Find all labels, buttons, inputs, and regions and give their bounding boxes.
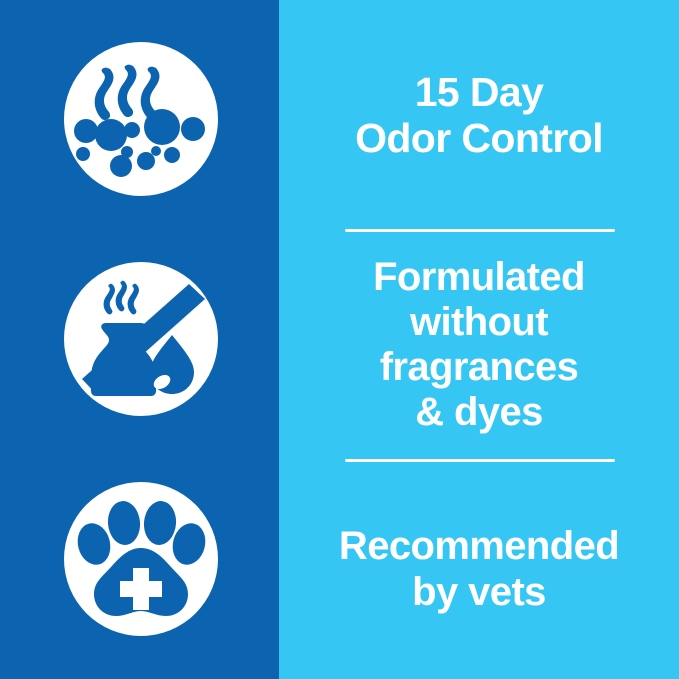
claim-vet-recommended-text: Recommended by vets bbox=[339, 524, 619, 614]
no-fragrance-dye-icon bbox=[64, 262, 218, 416]
icon-panel bbox=[0, 0, 279, 679]
odor-molecules-icon bbox=[64, 42, 218, 196]
claims-panel: 15 Day Odor Control Formulated without f… bbox=[279, 0, 679, 679]
claim-no-fragrance-dyes: Formulated without fragrances & dyes bbox=[279, 230, 679, 460]
product-benefits-infographic: 15 Day Odor Control Formulated without f… bbox=[0, 0, 679, 679]
icon-badge-vet-recommended bbox=[64, 482, 218, 636]
icon-badge-no-fragrance-dyes bbox=[64, 262, 218, 416]
claim-odor-control: 15 Day Odor Control bbox=[279, 0, 679, 230]
claim-vet-recommended: Recommended by vets bbox=[279, 460, 679, 679]
claim-divider-1 bbox=[345, 229, 615, 232]
vet-paw-cross-icon bbox=[64, 482, 218, 636]
claim-divider-2 bbox=[345, 459, 615, 462]
claim-no-fragrance-dyes-text: Formulated without fragrances & dyes bbox=[373, 255, 585, 436]
claim-odor-control-text: 15 Day Odor Control bbox=[355, 69, 603, 162]
icon-badge-odor-control bbox=[64, 42, 218, 196]
